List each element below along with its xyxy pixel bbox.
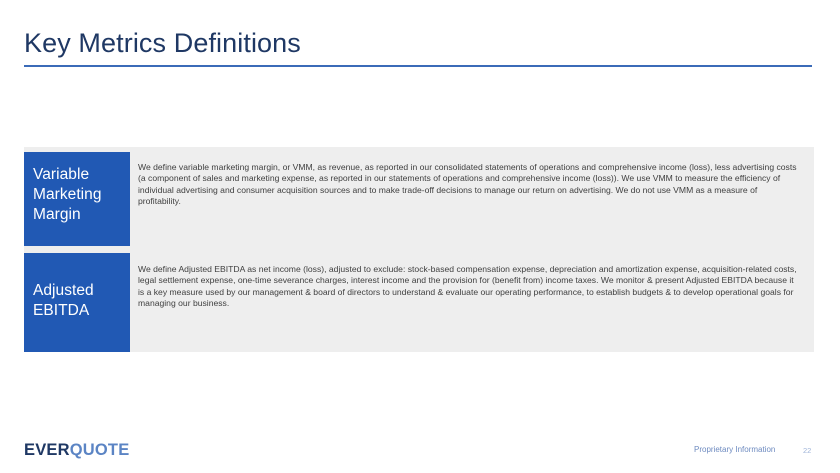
title-divider (24, 65, 812, 67)
logo-text-ever: EVER (24, 441, 70, 459)
definition-row: Variable Marketing Margin We define vari… (24, 152, 814, 246)
page-title: Key Metrics Definitions (24, 26, 301, 60)
definition-row: Adjusted EBITDA We define Adjusted EBITD… (24, 253, 814, 352)
metric-description-adjusted-ebitda: We define Adjusted EBITDA as net income … (130, 253, 814, 352)
logo-text-quote: QUOTE (70, 441, 130, 459)
slide-canvas: Key Metrics Definitions Variable Marketi… (0, 0, 840, 473)
footer-page-number: 22 (803, 445, 811, 456)
everquote-logo: EVERQUOTE (24, 440, 129, 460)
definitions-panel: Variable Marketing Margin We define vari… (24, 147, 814, 352)
footer-proprietary-note: Proprietary Information (694, 444, 775, 455)
metric-label-adjusted-ebitda: Adjusted EBITDA (24, 253, 130, 352)
metric-label-variable-marketing-margin: Variable Marketing Margin (24, 152, 130, 246)
metric-description-variable-marketing-margin: We define variable marketing margin, or … (130, 152, 814, 246)
